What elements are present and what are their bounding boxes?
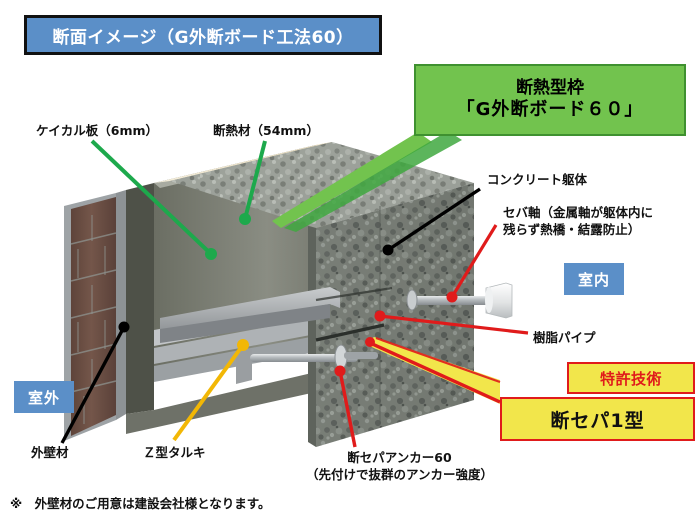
patent-badge: 特許技術 <box>567 362 695 394</box>
label-sepa-shaft-line1: セバ軸（金属軸が躯体内に <box>503 205 653 222</box>
label-anchor-line2: （先付けで抜群のアンカー強度） <box>306 467 493 484</box>
label-keikal-board: ケイカル板（6mm） <box>36 123 158 140</box>
green-callout-line2: 「G外断ボード６０」 <box>457 99 644 122</box>
label-sepa-shaft: セバ軸（金属軸が躯体内に 残らず熱橋・結露防止） <box>503 205 653 239</box>
label-z-furring: Ｚ型タルキ <box>143 445 206 462</box>
label-concrete-frame: コンクリート躯体 <box>487 172 587 189</box>
title-text: 断面イメージ（G外断ボード工法60） <box>52 23 353 48</box>
product-name-box: 断セパ1型 <box>500 397 695 441</box>
badge-outdoor: 室外 <box>14 381 74 413</box>
label-exterior-material: 外壁材 <box>31 445 69 462</box>
green-callout-box: 断熱型枠 「G外断ボード６０」 <box>414 64 686 136</box>
label-anchor: 断セパアンカー60 （先付けで抜群のアンカー強度） <box>306 450 493 484</box>
badge-indoor: 室内 <box>564 263 624 295</box>
badge-outdoor-label: 室外 <box>28 387 60 408</box>
label-resin-pipe: 樹脂パイプ <box>533 330 596 347</box>
product-name-label: 断セパ1型 <box>550 406 644 433</box>
air-gap-cavity <box>126 183 154 414</box>
diagram-page: 断面イメージ（G外断ボード工法60） 断熱型枠 「G外断ボード６０」 室内 室外… <box>0 0 700 525</box>
green-callout-line1: 断熱型枠 <box>516 78 584 99</box>
footnote-text: ※ 外壁材のご用意は建設会社様となります。 <box>10 496 271 513</box>
patent-badge-label: 特許技術 <box>600 368 662 389</box>
label-insulation: 断熱材（54mm） <box>213 123 319 140</box>
title-banner: 断面イメージ（G外断ボード工法60） <box>24 15 382 55</box>
label-anchor-line1: 断セパアンカー60 <box>306 450 493 467</box>
label-sepa-shaft-line2: 残らず熱橋・結露防止） <box>503 222 653 239</box>
badge-indoor-label: 室内 <box>578 269 610 290</box>
